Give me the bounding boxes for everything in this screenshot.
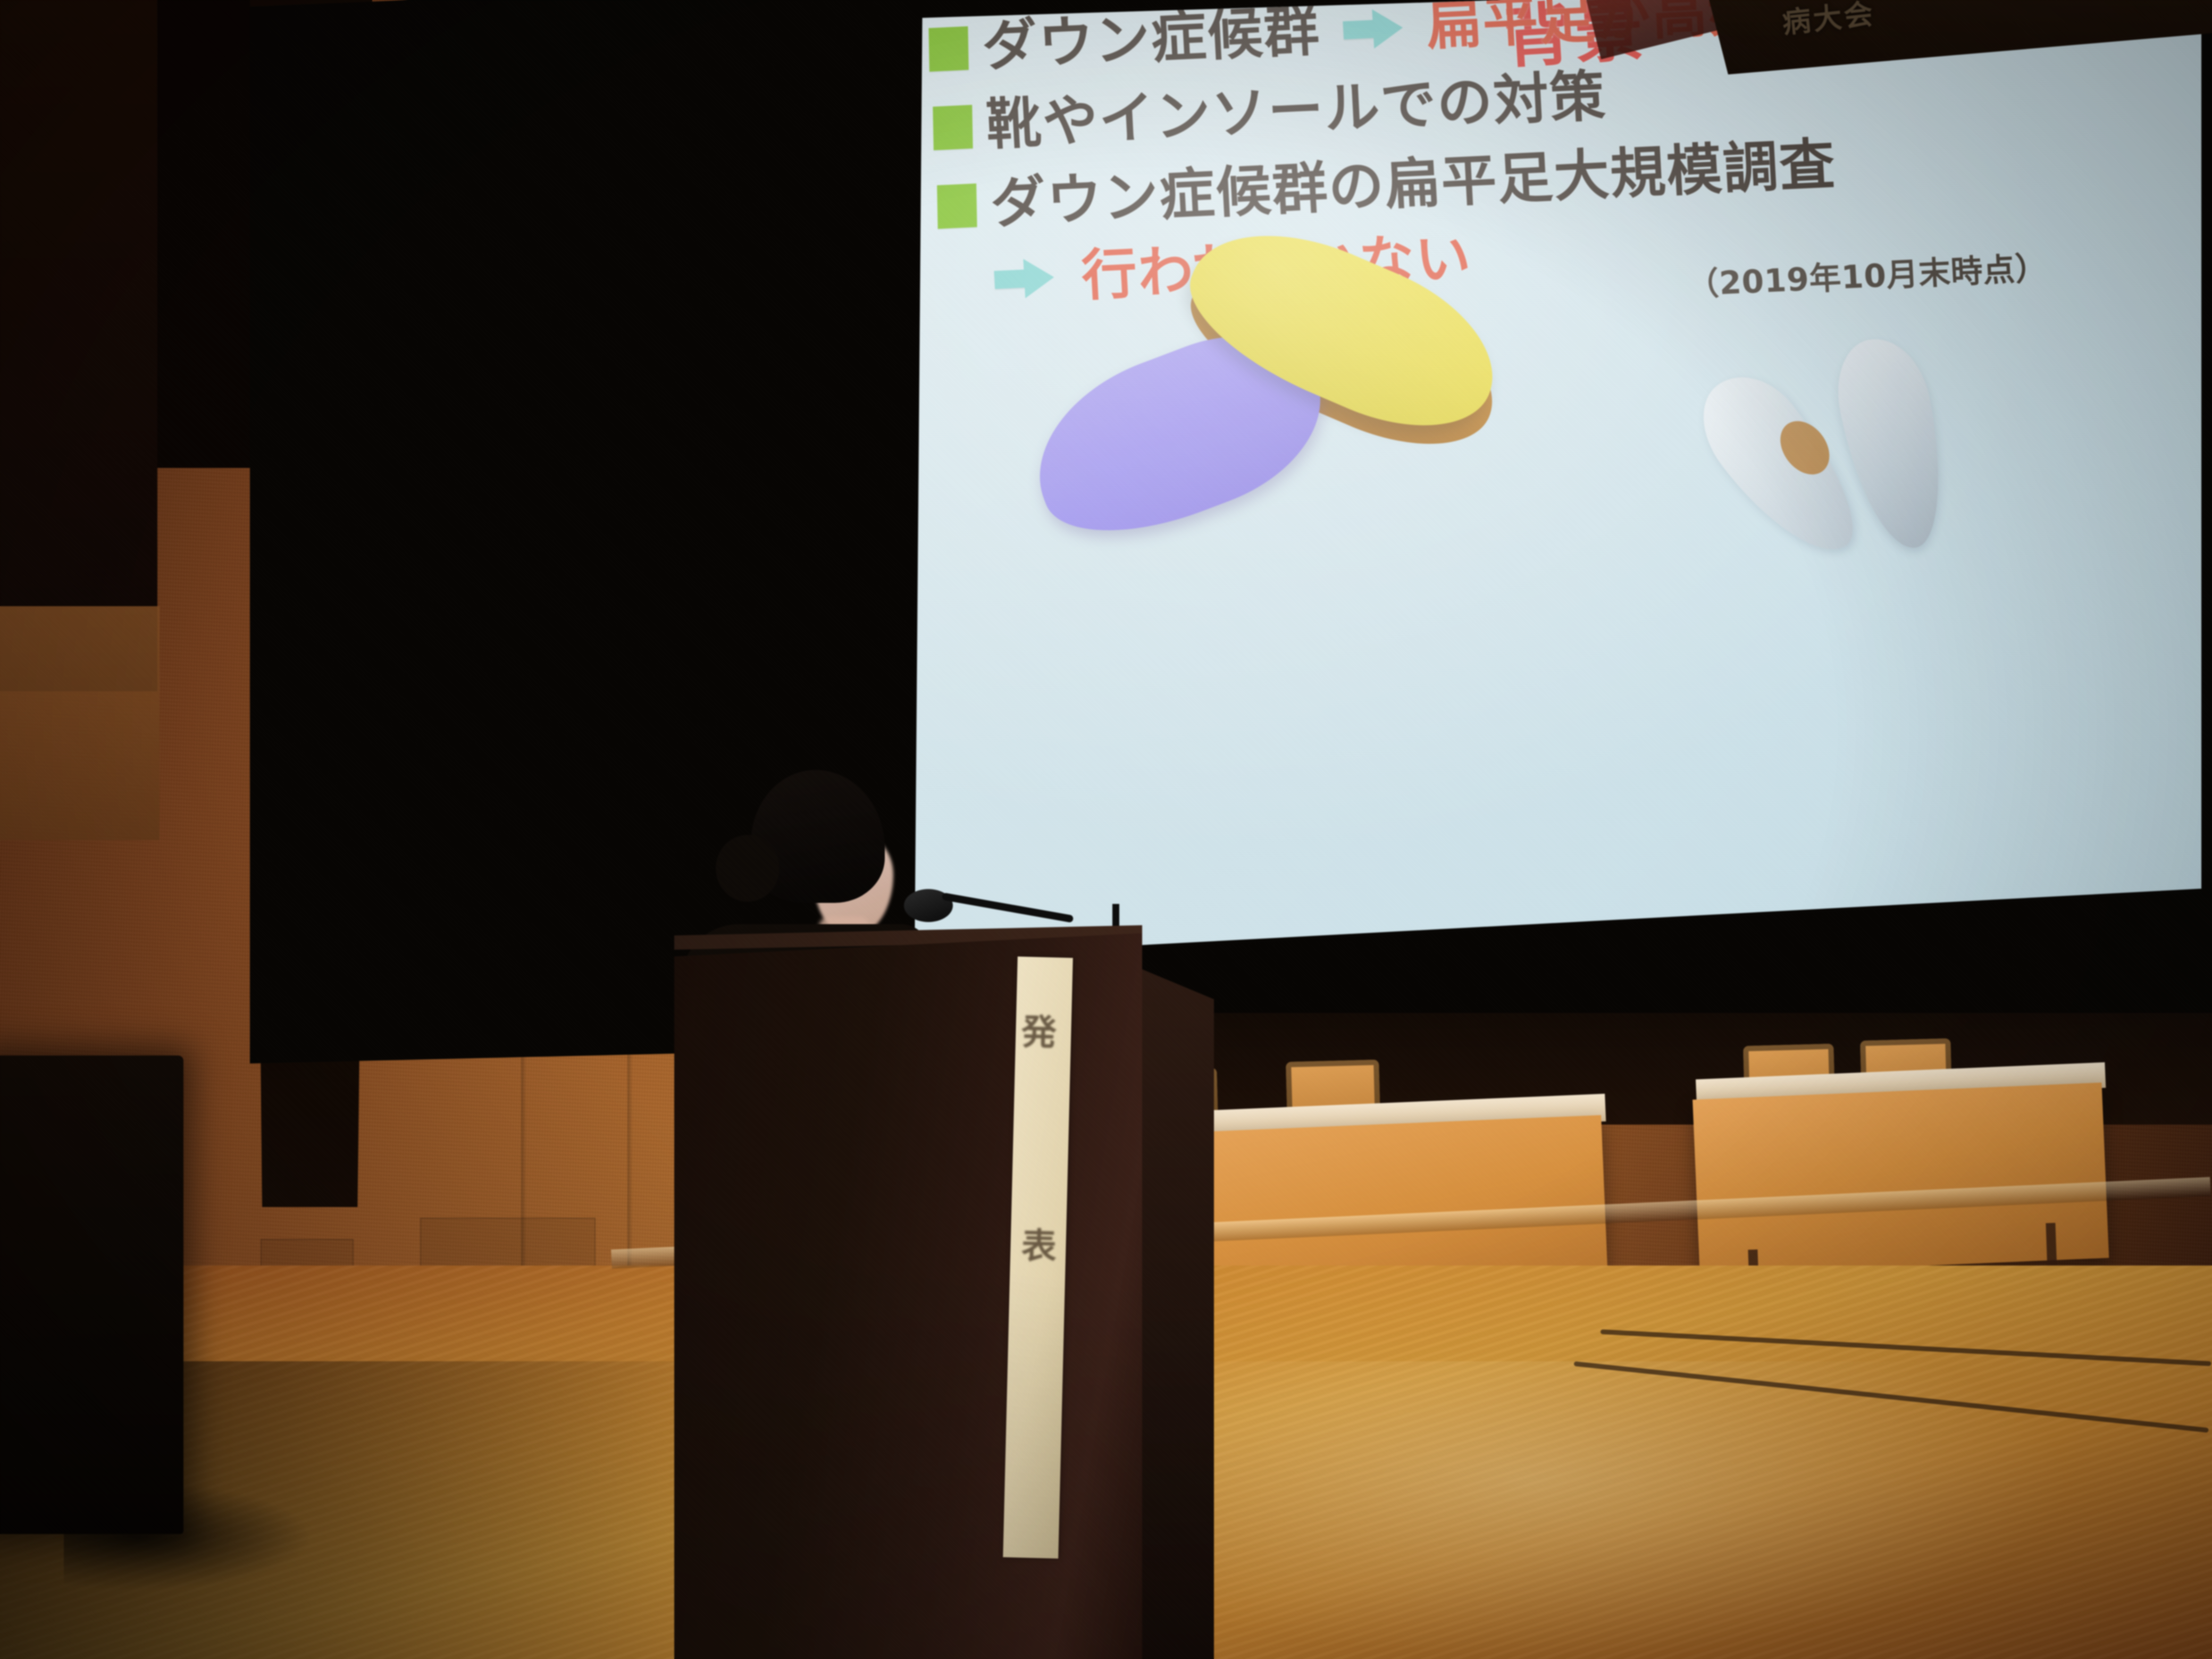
stage-speaker-cabinet [0,1055,183,1534]
stage-floor-highlight [1170,1361,2074,1659]
slide-bullet-2: 靴やインソールでの対策 [932,68,1607,156]
bullet-square-icon [933,105,973,150]
right-arrow-icon [993,257,1055,299]
presentation-slide: 背景 ダウン症候群 扁平足が高頻度 靴やインソールでの対策 ダウン症候群の扁平足… [915,0,2201,956]
bullet-square-icon [937,183,977,229]
right-arrow-icon [1343,8,1404,50]
podium-banner-char-2: 表 [1017,1217,1061,1269]
presenter-hair-tie [716,835,780,902]
wall-left-lit-panel [0,606,160,840]
podium [674,933,1142,1659]
bullet-square-icon [928,26,968,72]
podium-banner-char-1: 発 [1017,1003,1061,1055]
photograph-scene: 背景 ダウン症候群 扁平足が高頻度 靴やインソールでの対策 ダウン症候群の扁平足… [0,0,2212,1659]
bullet-2-label: 靴やインソールでの対策 [985,68,1607,153]
slide-date-note: （2019年10月末時点） [1686,242,2048,305]
projection-screen-surface: 背景 ダウン症候群 扁平足が高頻度 靴やインソールでの対策 ダウン症候群の扁平足… [915,0,2201,957]
wall-left-recess [0,0,157,691]
